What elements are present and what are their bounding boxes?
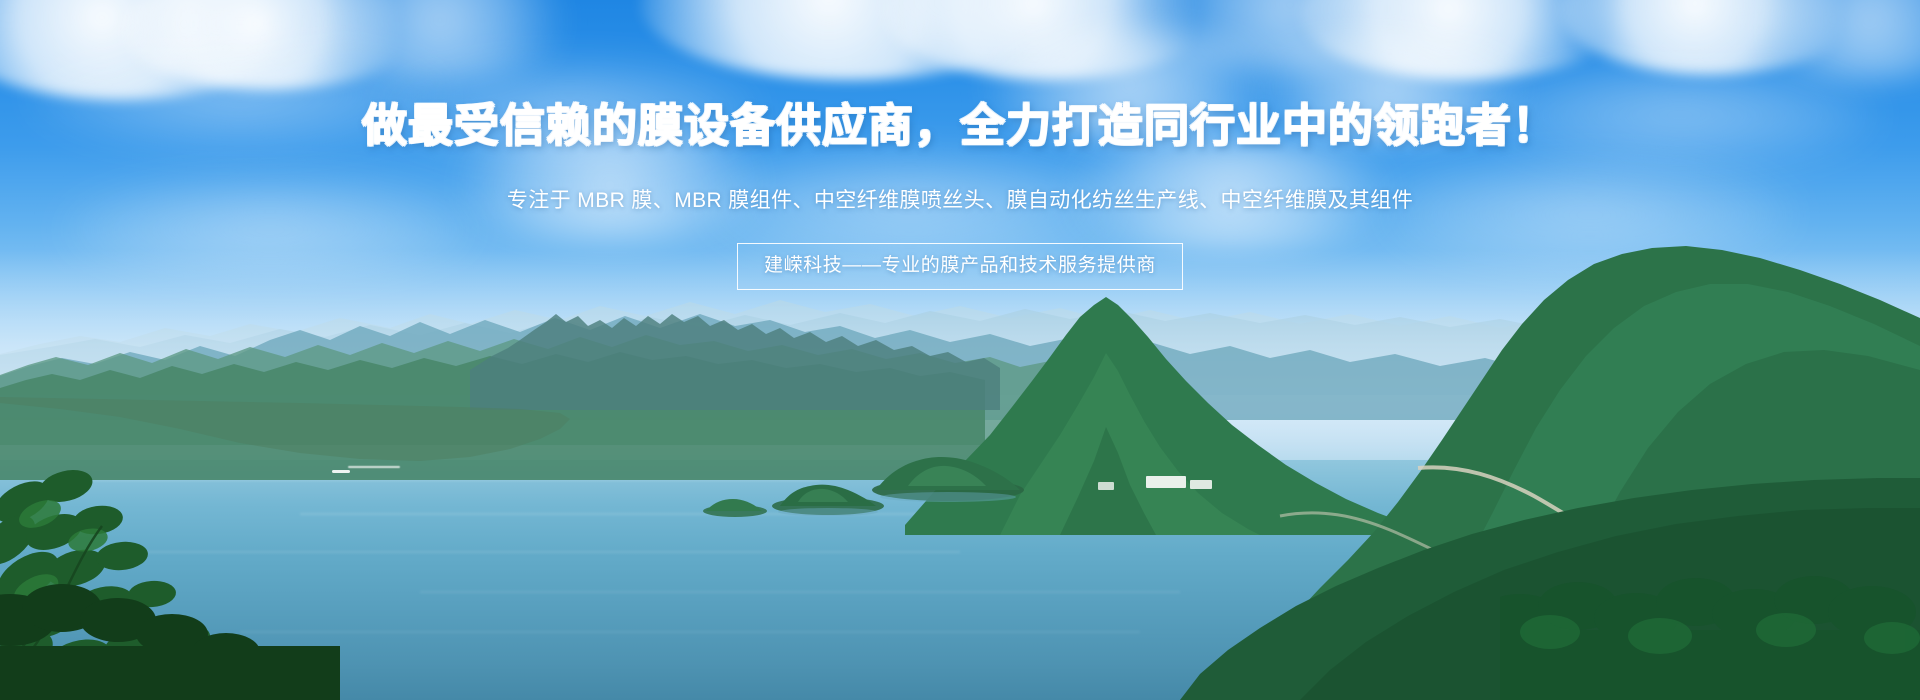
boat-wake bbox=[348, 466, 400, 468]
page-title: 做最受信赖的膜设备供应商，全力打造同行业中的领跑者！ bbox=[0, 101, 1920, 151]
lake-island-right bbox=[868, 446, 1028, 502]
lake-island-small bbox=[700, 492, 770, 518]
boat-wake bbox=[332, 470, 350, 473]
hero-banner: 做最受信赖的膜设备供应商，全力打造同行业中的领跑者！ 专注于 MBR 膜、MBR… bbox=[0, 0, 1920, 700]
subtitle-text: 专注于 MBR 膜、MBR 膜组件、中空纤维膜喷丝头、膜自动化纺丝生产线、中空纤… bbox=[0, 186, 1920, 216]
tagline-badge: 建嵘科技——专业的膜产品和技术服务提供商 bbox=[737, 243, 1183, 290]
tagline-container: 建嵘科技——专业的膜产品和技术服务提供商 bbox=[0, 243, 1920, 290]
